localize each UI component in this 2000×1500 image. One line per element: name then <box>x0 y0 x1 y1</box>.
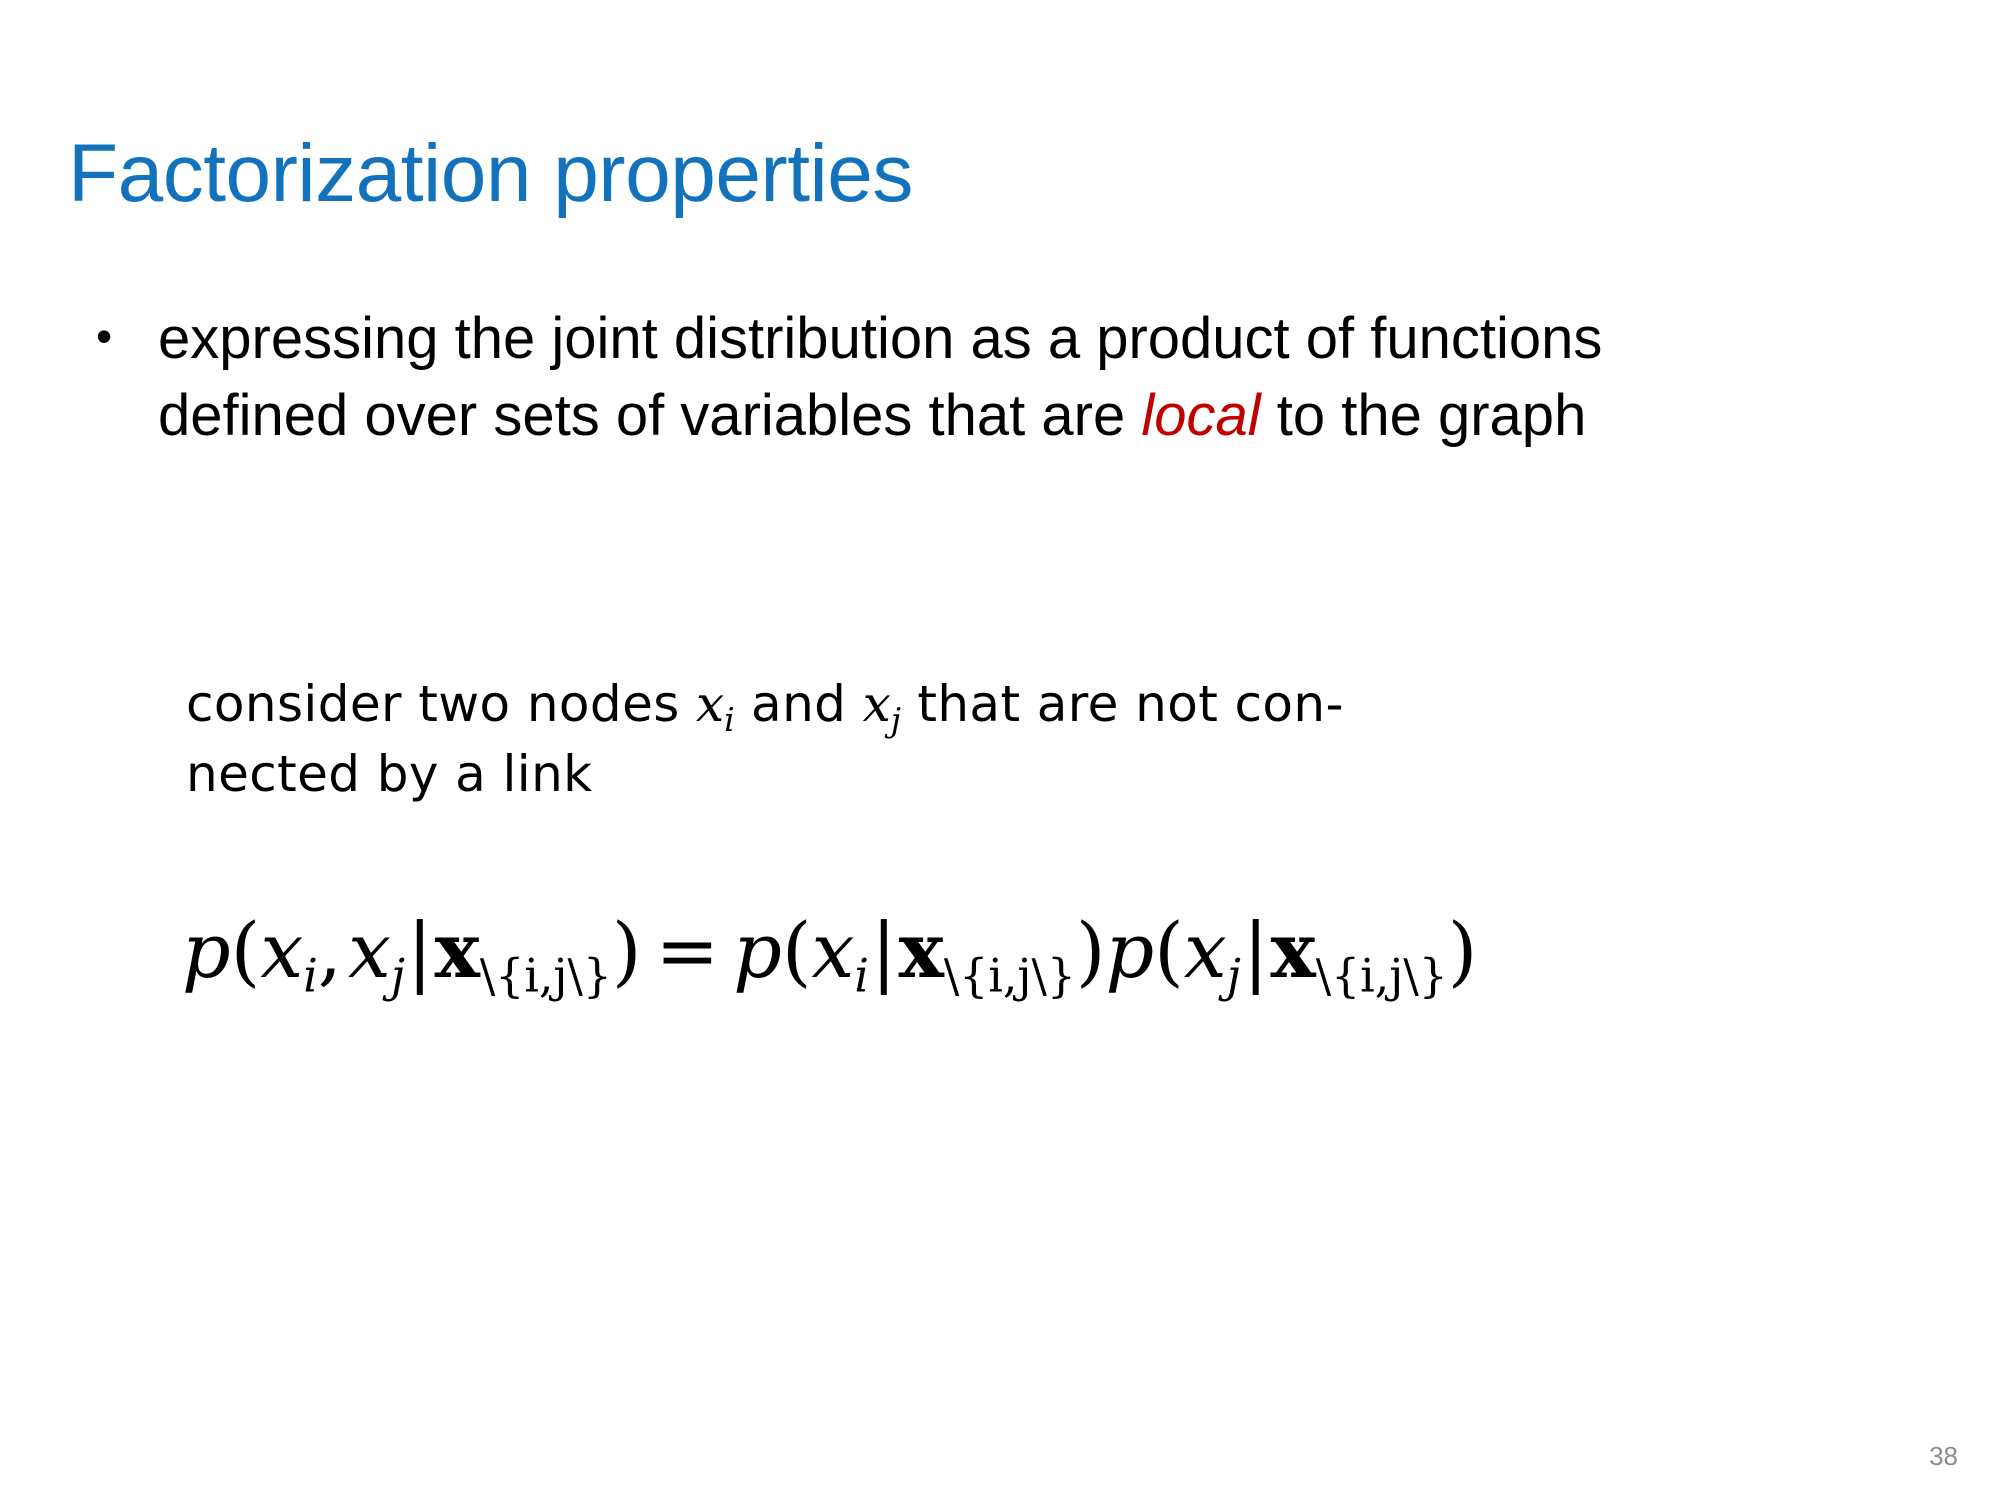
eq-close-paren-1: ) <box>612 906 642 995</box>
bullet-emphasis-local: local <box>1141 383 1260 448</box>
bullet-marker-icon: • <box>96 300 158 374</box>
eq-open-paren-3: ( <box>1154 906 1184 995</box>
eq-p-2: p <box>733 906 782 995</box>
display-equation: p(xi,xj|x\{i,j\})=p(xi|x\{i,j\})p(xj|x\{… <box>182 905 1922 1004</box>
eq-x-1: x <box>260 906 303 995</box>
page-number: 38 <box>1929 1441 1958 1472</box>
eq-sub-j-2: j <box>1227 950 1241 1003</box>
eq-x-2: x <box>348 906 391 995</box>
eq-open-paren-2: ( <box>782 906 812 995</box>
tex-paragraph-line-1: consider two nodes xi and xj that are no… <box>186 672 1846 742</box>
list-item: • expressing the joint distribution as a… <box>96 300 1816 454</box>
tex-line1-part1: consider two nodes <box>186 675 696 733</box>
eq-comma-1: , <box>318 906 348 995</box>
tex-line1-part2: and <box>735 675 863 733</box>
eq-bar-2: | <box>869 906 899 995</box>
eq-close-paren-2: ) <box>1076 906 1106 995</box>
eq-setminus-sub-2: \{i,j\} <box>944 950 1076 1003</box>
eq-x-3: x <box>812 906 855 995</box>
eq-equals: = <box>642 906 734 995</box>
eq-sub-i-2: i <box>854 950 869 1003</box>
bullet-text-after: to the graph <box>1261 383 1587 448</box>
math-variable-xj-subscript: j <box>891 700 901 739</box>
eq-boldx-2: x <box>899 906 944 995</box>
tex-line1-part3: that are not con- <box>901 675 1344 733</box>
eq-setminus-sub-3: \{i,j\} <box>1316 950 1448 1003</box>
eq-setminus-sub-1: \{i,j\} <box>480 950 612 1003</box>
math-variable-xj-base: x <box>863 675 891 733</box>
bullet-list: • expressing the joint distribution as a… <box>96 300 1816 454</box>
eq-sub-i-1: i <box>303 950 318 1003</box>
slide-canvas: Factorization properties • expressing th… <box>0 0 2000 1500</box>
math-variable-xi: xi <box>696 675 735 733</box>
math-variable-xi-base: x <box>696 675 724 733</box>
eq-boldx-1: x <box>435 906 480 995</box>
bullet-text: expressing the joint distribution as a p… <box>158 300 1798 454</box>
eq-open-paren-1: ( <box>231 906 261 995</box>
eq-boldx-3: x <box>1270 906 1315 995</box>
eq-bar-1: | <box>405 906 435 995</box>
math-variable-xj: xj <box>863 675 901 733</box>
eq-p-1: p <box>182 906 231 995</box>
eq-p-3: p <box>1106 906 1155 995</box>
eq-x-4: x <box>1184 906 1227 995</box>
eq-close-paren-3: ) <box>1448 906 1478 995</box>
tex-paragraph: consider two nodes xi and xj that are no… <box>186 672 1846 807</box>
eq-bar-3: | <box>1241 906 1271 995</box>
tex-paragraph-line-2: nected by a link <box>186 742 1846 807</box>
page-title: Factorization properties <box>68 131 1768 217</box>
math-variable-xi-subscript: i <box>724 700 735 739</box>
eq-sub-j-1: j <box>391 950 405 1003</box>
